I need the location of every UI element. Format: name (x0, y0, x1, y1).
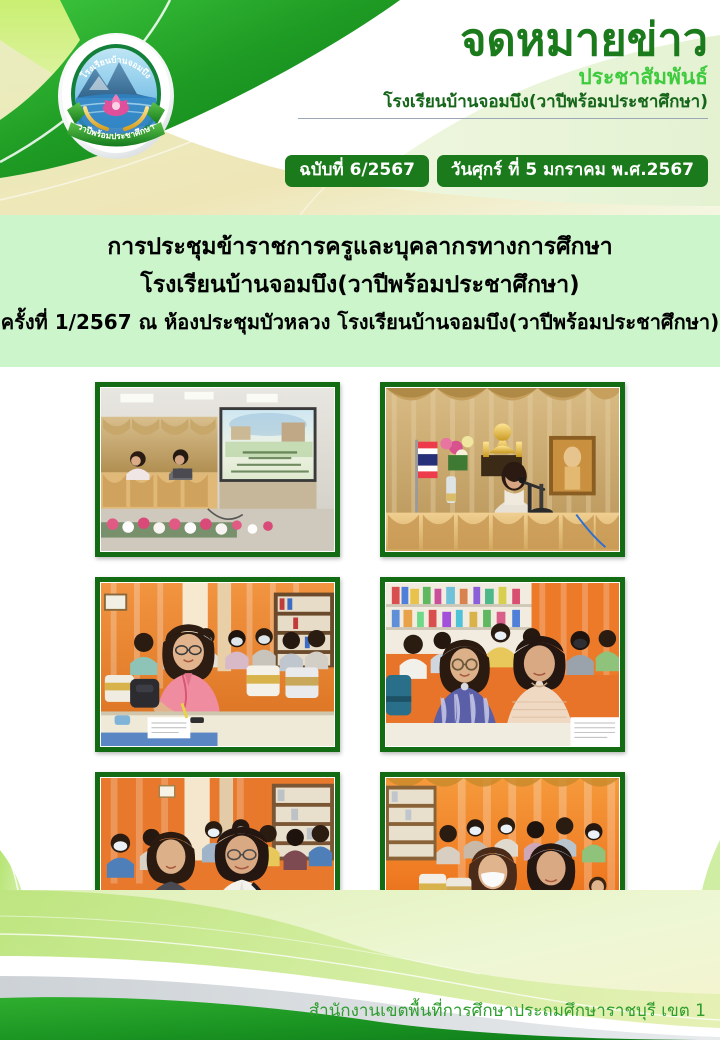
footer-office-name: สำนักงานเขตพื้นที่การศึกษาประถมศึกษาราชบ… (309, 997, 706, 1024)
photo-1 (95, 382, 340, 557)
photo-gallery (0, 367, 720, 967)
masthead: จดหมายข่าว ประชาสัมพันธ์ โรงเรียนบ้านจอม… (238, 14, 708, 119)
page-header: โรงเรียนบ้านจอมบึง วาปีพร้อมประชาศึกษา จ… (0, 0, 720, 215)
photo-4 (380, 577, 625, 752)
newsletter-title: จดหมายข่าว (238, 14, 708, 66)
masthead-divider (298, 118, 708, 119)
title-banner: การประชุมข้าราชการครูและบุคลากรทางการศึก… (0, 215, 720, 367)
photo-4-image (386, 583, 619, 746)
event-title-line-2: โรงเรียนบ้านจอมบึง(วาปีพร้อมประชาศึกษา) (0, 266, 720, 304)
newsletter-subtitle: ประชาสัมพันธ์ (238, 64, 708, 90)
photo-row (0, 577, 720, 757)
issue-badge: ฉบับที่ 6/2567 (285, 155, 429, 187)
photo-2 (380, 382, 625, 557)
photo-row (0, 382, 720, 562)
photo-3 (95, 577, 340, 752)
photo-1-image (101, 388, 334, 551)
photo-2-image (386, 388, 619, 551)
photo-3-image (101, 583, 334, 746)
page-footer: สำนักงานเขตพื้นที่การศึกษาประถมศึกษาราชบ… (0, 890, 720, 1040)
date-badge: วันศุกร์ ที่ 5 มกราคม พ.ศ.2567 (437, 155, 708, 187)
event-title-line-1: การประชุมข้าราชการครูและบุคลากรทางการศึก… (0, 228, 720, 266)
newsletter-page: โรงเรียนบ้านจอมบึง วาปีพร้อมประชาศึกษา จ… (0, 0, 720, 1040)
school-emblem-icon: โรงเรียนบ้านจอมบึง วาปีพร้อมประชาศึกษา (55, 28, 177, 161)
school-name: โรงเรียนบ้านจอมบึง(วาปีพร้อมประชาศึกษา) (238, 91, 708, 113)
event-title-line-3: ครั้งที่ 1/2567 ณ ห้องประชุมบัวหลวง โรงเ… (0, 304, 720, 340)
badge-group: ฉบับที่ 6/2567 วันศุกร์ ที่ 5 มกราคม พ.ศ… (285, 155, 708, 187)
